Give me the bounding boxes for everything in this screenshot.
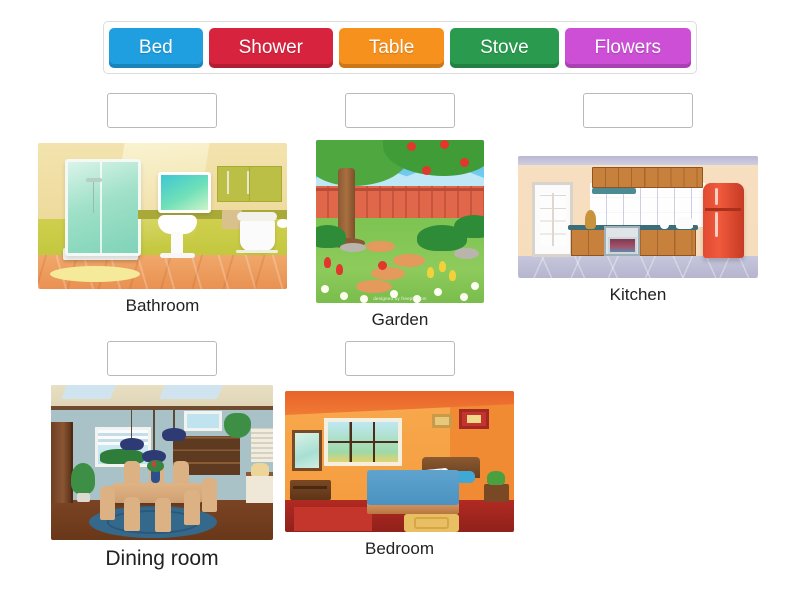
drop-zone-bedroom[interactable]	[345, 341, 455, 376]
card-dining-room: Dining room	[51, 385, 273, 571]
word-tile-stove[interactable]: Stove	[450, 28, 558, 68]
daisy-flower	[471, 282, 479, 290]
drop-zone-bathroom[interactable]	[107, 93, 217, 128]
pendant-cord	[153, 410, 155, 453]
dining-chair	[173, 461, 189, 484]
dining-skylight	[159, 385, 222, 399]
word-bank: Bed Shower Table Stove Flowers	[103, 21, 697, 74]
bedroom-window	[324, 418, 402, 466]
garden-bush	[454, 215, 484, 238]
caption-bathroom: Bathroom	[38, 296, 287, 316]
caption-bedroom: Bedroom	[285, 539, 514, 559]
dining-side-cabinet	[246, 472, 273, 502]
apple-icon	[378, 261, 387, 270]
caption-dining-room: Dining room	[51, 547, 273, 571]
bedroom-potted-plant	[487, 471, 505, 485]
kitchen-upper-cabinets	[592, 167, 702, 188]
kitchen-image	[518, 156, 758, 278]
bedroom-small-rug	[404, 514, 459, 532]
dining-skylight	[61, 385, 115, 399]
card-bedroom: Bedroom	[285, 391, 514, 559]
shower-cabin	[65, 159, 141, 256]
dining-chair	[100, 486, 116, 520]
bedroom-image	[285, 391, 514, 532]
dining-hanging-plant	[224, 413, 251, 438]
tulip-flower	[439, 261, 446, 272]
dining-chair	[184, 490, 200, 524]
cabinet-handle-right-icon	[247, 171, 249, 194]
freepik-watermark: designed by freepik.com	[316, 296, 484, 301]
bed	[367, 470, 459, 505]
kitchen-range-hood	[592, 188, 635, 194]
garden-image: designed by freepik.com	[316, 140, 484, 303]
word-tile-shower[interactable]: Shower	[209, 28, 333, 68]
tulip-flower	[427, 267, 434, 278]
bathroom-image	[38, 143, 287, 289]
garden-stone	[454, 248, 479, 259]
bedroom-dresser	[290, 480, 331, 500]
dining-table-lamp	[251, 463, 269, 477]
apple-icon	[407, 142, 416, 151]
toilet-paper-icon	[277, 219, 287, 228]
drop-zone-garden[interactable]	[345, 93, 455, 128]
shower-head-icon	[93, 181, 95, 213]
sink-pedestal	[171, 232, 183, 258]
dining-chair	[124, 461, 140, 484]
bathroom-toilet	[240, 219, 275, 251]
apple-icon	[422, 166, 431, 175]
dining-potted-plant	[71, 463, 95, 494]
caption-kitchen: Kitchen	[518, 285, 758, 305]
word-tile-bed[interactable]: Bed	[109, 28, 203, 68]
kitchen-oven-window	[608, 237, 637, 254]
word-tile-flowers[interactable]: Flowers	[565, 28, 691, 68]
kitchen-floor	[518, 256, 758, 278]
cabinet-handle-left-icon	[227, 171, 229, 194]
bathroom-sink	[158, 215, 198, 234]
bedroom-carpet	[294, 507, 372, 531]
bathroom-mat	[50, 266, 140, 282]
word-tile-table[interactable]: Table	[339, 28, 444, 68]
bathroom-mirror	[158, 172, 211, 213]
bedroom-picture-frame	[432, 414, 453, 428]
drop-zone-kitchen[interactable]	[583, 93, 693, 128]
kitchen-kettle	[676, 217, 693, 229]
tulip-flower	[449, 270, 456, 281]
fridge-handle-bottom-icon	[715, 212, 718, 236]
dining-small-window	[184, 411, 222, 431]
pendant-lamp	[120, 438, 144, 450]
fridge-handle-top-icon	[715, 188, 718, 205]
dining-flower-vase	[151, 470, 160, 482]
bedroom-nightstand	[484, 484, 509, 502]
caption-garden: Garden	[316, 310, 484, 330]
card-kitchen: Kitchen	[518, 156, 758, 305]
garden-path-stone	[356, 280, 391, 293]
kitchen-ceiling	[518, 156, 758, 165]
card-garden: designed by freepik.com Garden	[316, 140, 484, 330]
dining-window-blind	[251, 428, 273, 462]
pendant-cord	[131, 410, 133, 441]
drop-zone-dining-room[interactable]	[107, 341, 217, 376]
dining-door	[51, 422, 73, 503]
dining-chair	[124, 497, 140, 531]
bedroom-mirror	[292, 430, 322, 471]
card-bathroom: Bathroom	[38, 143, 287, 316]
kitchen-refrigerator	[703, 183, 744, 259]
pendant-lamp	[162, 428, 186, 440]
dining-room-image	[51, 385, 273, 540]
bedroom-picture-frame	[459, 409, 489, 429]
tulip-flower	[336, 264, 343, 275]
dining-chair	[155, 498, 171, 532]
dining-chair	[202, 478, 218, 512]
kitchen-door	[532, 182, 573, 258]
kitchen-bottle	[585, 210, 596, 230]
